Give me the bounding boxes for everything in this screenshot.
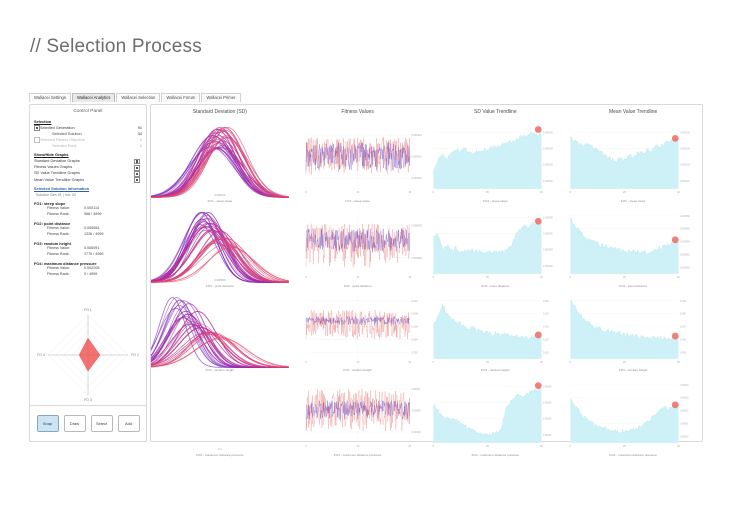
- svg-text:0.000663: 0.000663: [680, 254, 690, 256]
- selection-row-value: 91: [128, 126, 142, 131]
- selected-generation-marker[interactable]: [672, 332, 679, 339]
- svg-text:0.005: 0.005: [680, 352, 687, 354]
- sd-trendline-chart: 0.000040.000030.000020.0000102040: [427, 373, 565, 458]
- chart-cell[interactable]: 0.008FO3 - random height: [151, 289, 289, 374]
- chart-x-axis-label: FO2 - point distance: [289, 284, 427, 288]
- field-value: 0 / 4999: [84, 272, 142, 277]
- svg-text:0.008: 0.008: [680, 313, 687, 315]
- objective-fitness-value: Fitness Value:0.000114: [34, 206, 142, 212]
- field-label: Fitness Rank:: [47, 272, 84, 277]
- objective-info-blocks: FO1: steep slopeFitness Value:0.000114Fi…: [34, 201, 142, 277]
- svg-text:0.00005: 0.00005: [411, 410, 421, 413]
- sd-trendline-chart: 0.0000080.0000060.0000040.00000202040: [427, 204, 565, 289]
- selection-row-value: 0: [128, 144, 142, 149]
- svg-text:40: 40: [408, 276, 411, 279]
- svg-text:0: 0: [432, 361, 434, 364]
- svg-text:0.000650: 0.000650: [411, 257, 422, 260]
- tab-wallacei-selection[interactable]: Wallacei Selection: [116, 93, 160, 102]
- checkbox-slot: [34, 137, 40, 143]
- field-value: 0.000654: [84, 226, 142, 231]
- chart-x-axis-label: FO4 - maximum distance pressure: [289, 453, 427, 457]
- svg-text:0.003: 0.003: [543, 326, 550, 328]
- svg-text:20: 20: [623, 191, 626, 194]
- svg-text:0.002: 0.002: [543, 339, 550, 341]
- field-value: 1326 / 4999: [84, 232, 142, 237]
- page-title: // Selection Process: [30, 36, 202, 58]
- radar-axis-label: FO 1: [84, 308, 92, 312]
- selection-row-label: Selected Rank: [40, 144, 128, 149]
- showhide-row[interactable]: SD Value Trendline Graphs: [34, 171, 142, 177]
- selected-generation-marker[interactable]: [534, 126, 541, 133]
- objective-fitness-rank: Fitness Rank:1770 / 4999: [34, 252, 142, 258]
- svg-text:20: 20: [485, 445, 488, 448]
- svg-text:40: 40: [408, 361, 411, 364]
- svg-text:40: 40: [677, 191, 680, 194]
- svg-text:20: 20: [356, 191, 359, 194]
- showhide-row-label: SD Value Trendline Graphs: [34, 171, 134, 176]
- objective-fitness-rank: Fitness Rank:1326 / 4999: [34, 232, 142, 238]
- svg-text:0: 0: [305, 445, 307, 448]
- svg-text:0.00030: 0.00030: [680, 437, 689, 439]
- chart-x-axis-label: FO1 - steep slope: [564, 199, 702, 203]
- selected-generation-marker[interactable]: [672, 402, 679, 409]
- chart-column-heading: SD Value Trendline: [427, 109, 565, 115]
- field-value: 968 / 4999: [84, 212, 142, 217]
- chart-cell[interactable]: 0.000040.000030.000020.0000102040FO4 - m…: [427, 373, 565, 458]
- showhide-row[interactable]: Mean Value Trendline Graphs: [34, 177, 142, 183]
- selection-row-value: 0: [128, 138, 142, 143]
- sd-trendline-column: 0.0000350.0000340.0000330.00003202040FO1…: [427, 119, 565, 439]
- svg-text:40: 40: [540, 191, 543, 194]
- checkbox-slot: [34, 125, 40, 131]
- field-value: 0.006091: [84, 246, 142, 251]
- field-value: 1770 / 4999: [84, 252, 142, 257]
- sd-curve-chart: [151, 373, 289, 458]
- svg-text:0: 0: [432, 276, 434, 279]
- svg-text:0: 0: [305, 361, 307, 364]
- chart-cell[interactable]: 0.0000350.0000340.0000330.00003202040FO1…: [427, 119, 565, 204]
- svg-text:0: 0: [432, 445, 434, 448]
- selected-generation-marker[interactable]: [534, 331, 541, 338]
- chart-cell[interactable]: 0.0006660.0006650.0006640.0006630.000662…: [564, 204, 702, 289]
- tool-buttons-row: SnapDrawSelectAdd: [30, 406, 146, 441]
- sd-curve-chart: [151, 204, 289, 289]
- svg-text:0.005: 0.005: [543, 300, 550, 302]
- chart-column-heading: Mean Value Trendline: [564, 109, 702, 115]
- svg-text:0.000033: 0.000033: [543, 165, 553, 167]
- objective-fitness-value: Fitness Value:0.006091: [34, 246, 142, 252]
- sd-curve-chart: [151, 289, 289, 374]
- svg-text:40: 40: [540, 276, 543, 279]
- svg-text:0.004: 0.004: [543, 313, 550, 315]
- sd-x-tick: 0.000112: [151, 194, 289, 197]
- svg-text:0.004: 0.004: [411, 338, 418, 341]
- checkbox-icon[interactable]: [134, 171, 140, 177]
- chart-x-axis-label: FO4 - maximum distance pressure: [151, 453, 289, 457]
- svg-text:20: 20: [485, 361, 488, 364]
- sd-trendline-chart: 0.0000350.0000340.0000330.00003202040: [427, 119, 565, 204]
- selected-generation-marker[interactable]: [534, 383, 541, 390]
- chart-x-axis-label: FO4 - maximum distance pressure: [427, 453, 565, 457]
- control-panel: Control Panel Selection Selected Generat…: [29, 104, 147, 442]
- svg-text:40: 40: [540, 361, 543, 364]
- svg-text:40: 40: [408, 191, 411, 194]
- selection-row-label: Selected Solution: [40, 132, 128, 137]
- field-label: Fitness Rank:: [47, 252, 84, 257]
- svg-text:0.000112: 0.000112: [411, 177, 422, 180]
- sd-x-tick: 0.1: [151, 448, 289, 451]
- selection-row[interactable]: Selected Generation91: [34, 125, 142, 131]
- fitness-values-chart: 0.0100.0080.0060.0040.00202040: [289, 289, 427, 374]
- fitness-column: 0.0001140.0001130.00011202040FO1 - steep…: [289, 119, 427, 439]
- svg-text:20: 20: [356, 361, 359, 364]
- sd-x-tick: 0.000658: [151, 279, 289, 282]
- chart-cell[interactable]: 0.0001140.0001130.00011202040FO1 - steep…: [289, 119, 427, 204]
- svg-text:0.000655: 0.000655: [411, 224, 422, 227]
- svg-text:0.00007: 0.00007: [411, 388, 421, 391]
- svg-text:0: 0: [570, 191, 572, 194]
- selection-row[interactable]: Selected Rank0: [34, 143, 142, 149]
- selection-row[interactable]: Selected Fitness Objective0: [34, 137, 142, 143]
- selection-section-heading: Selection: [34, 119, 142, 124]
- chart-column-heading: Fitness Values: [289, 109, 427, 115]
- svg-text:0.000032: 0.000032: [543, 181, 553, 183]
- svg-text:0.001: 0.001: [543, 352, 550, 354]
- svg-text:0: 0: [305, 276, 307, 279]
- svg-text:0.010: 0.010: [411, 299, 418, 302]
- tab-bar: Wallacei SettingsWallacei AnalyticsWalla…: [29, 93, 242, 102]
- svg-text:0.006: 0.006: [411, 325, 418, 328]
- chart-x-axis-label: FO3 - random height: [564, 368, 702, 372]
- chart-cell[interactable]: 0.0006550.00065002040FO2 - point distanc…: [289, 204, 427, 289]
- mean-trendline-chart: 0.000340.000330.000320.000310.0003002040: [564, 373, 702, 458]
- solution-info-heading: Selected Solution Information: [34, 186, 142, 191]
- svg-text:40: 40: [408, 445, 411, 448]
- chart-cell[interactable]: 0.0090.0080.0070.0060.00502040FO3 - rand…: [564, 289, 702, 374]
- chart-grid: 0.000112FO1 - steep slope0.000658FO2 - p…: [151, 119, 702, 439]
- selected-generation-marker[interactable]: [534, 218, 541, 225]
- chart-cell[interactable]: 0.000112FO1 - steep slope: [151, 119, 289, 204]
- svg-text:0.000035: 0.000035: [543, 132, 553, 134]
- svg-text:0.000034: 0.000034: [543, 149, 553, 151]
- sd-trendline-chart: 0.0050.0040.0030.0020.00102040: [427, 289, 565, 374]
- selection-rows: Selected Generation91Selected Solution34…: [34, 125, 142, 149]
- chart-x-axis-label: FO4 - maximum distance pressure: [564, 453, 702, 457]
- objective-fitness-value: Fitness Value:0.002208: [34, 266, 142, 272]
- field-label: Fitness Value:: [47, 246, 84, 251]
- chart-x-axis-label: FO3 - random height: [427, 368, 565, 372]
- svg-text:0: 0: [305, 191, 307, 194]
- svg-text:20: 20: [623, 445, 626, 448]
- chart-x-axis-label: FO2 - point distance: [564, 284, 702, 288]
- svg-text:0.006: 0.006: [680, 339, 687, 341]
- svg-text:40: 40: [677, 361, 680, 364]
- svg-text:20: 20: [485, 191, 488, 194]
- tab-wallacei-settings[interactable]: Wallacei Settings: [29, 93, 71, 102]
- selection-row[interactable]: Selected Solution34: [34, 131, 142, 137]
- field-label: Fitness Value:: [47, 266, 84, 271]
- chart-x-axis-label: FO1 - steep slope: [427, 199, 565, 203]
- svg-text:0: 0: [570, 361, 572, 364]
- svg-text:0.000665: 0.000665: [680, 229, 690, 231]
- sd-column: 0.000112FO1 - steep slope0.000658FO2 - p…: [151, 119, 289, 439]
- svg-text:0.00004: 0.00004: [543, 387, 552, 389]
- svg-text:0.000113: 0.000113: [411, 156, 422, 159]
- checkbox-icon[interactable]: [134, 177, 140, 183]
- checkbox-icon[interactable]: [134, 159, 140, 165]
- svg-text:0.00033: 0.00033: [680, 398, 689, 400]
- showhide-row-label: Standard Deviation Graphs: [34, 159, 134, 164]
- chart-x-axis-label: FO1 - steep slope: [151, 199, 289, 203]
- svg-text:20: 20: [623, 276, 626, 279]
- selection-row-label: Selected Generation: [40, 126, 128, 131]
- svg-text:0.002: 0.002: [411, 351, 418, 354]
- chart-column-headings: Standard Deviation (SD)Fitness ValuesSD …: [151, 109, 702, 115]
- svg-text:0.000004: 0.000004: [543, 250, 553, 252]
- selected-generation-marker[interactable]: [672, 135, 679, 142]
- selection-row-label: Selected Fitness Objective: [40, 138, 128, 143]
- chart-x-axis-label: FO2 - point distance: [427, 284, 565, 288]
- radar-svg: FO 1FO 2FO 3FO 4: [30, 293, 146, 418]
- chart-cell[interactable]: 0.000070.000050.0000302040FO4 - maximum …: [289, 373, 427, 458]
- showhide-row-label: Fitness Values Graphs: [34, 165, 134, 170]
- control-panel-body: Selection Selected Generation91Selected …: [30, 113, 146, 277]
- chart-column-heading: Standard Deviation (SD): [151, 109, 289, 115]
- field-label: Fitness Rank:: [47, 212, 84, 217]
- showhide-rows: Standard Deviation GraphsFitness Values …: [34, 159, 142, 184]
- svg-text:40: 40: [677, 276, 680, 279]
- field-label: Fitness Value:: [47, 226, 84, 231]
- chart-cell[interactable]: 0.1FO4 - maximum distance pressure: [151, 373, 289, 458]
- svg-text:0: 0: [570, 276, 572, 279]
- checkbox-icon[interactable]: [134, 165, 140, 171]
- svg-text:0.00031: 0.00031: [680, 424, 689, 426]
- mean-trendline-column: 0.0002250.0002240.0002230.00022202040FO1…: [564, 119, 702, 439]
- objective-fitness-rank: Fitness Rank:0 / 4999: [34, 272, 142, 278]
- select-button[interactable]: Select: [91, 415, 113, 432]
- field-value: 0.002208: [84, 266, 142, 271]
- fitness-values-chart: 0.0006550.00065002040: [289, 204, 427, 289]
- svg-text:0.000664: 0.000664: [680, 241, 690, 243]
- svg-text:40: 40: [540, 445, 543, 448]
- tab-wallacei-analytics[interactable]: Wallacei Analytics: [72, 93, 115, 102]
- svg-text:0.00001: 0.00001: [543, 435, 552, 437]
- svg-text:0.000666: 0.000666: [680, 216, 690, 218]
- svg-text:0.00032: 0.00032: [680, 411, 689, 413]
- svg-text:0.007: 0.007: [680, 326, 687, 328]
- sd-curve-chart: [151, 119, 289, 204]
- fitness-values-chart: 0.0001140.0001130.00011202040: [289, 119, 427, 204]
- svg-text:0.000223: 0.000223: [680, 165, 690, 167]
- svg-text:20: 20: [356, 445, 359, 448]
- radar-axis-label: FO 3: [84, 398, 92, 402]
- svg-text:0.000002: 0.000002: [543, 266, 553, 268]
- svg-text:0.008: 0.008: [411, 312, 418, 315]
- solution-info-subtitle: Solution Gen 91 | Ind. 34: [34, 193, 142, 198]
- app-root: // Selection Process Wallacei SettingsWa…: [0, 0, 730, 516]
- mean-trendline-chart: 0.0002250.0002240.0002230.00022202040: [564, 119, 702, 204]
- field-label: Fitness Value:: [47, 206, 84, 211]
- field-value: 0.000114: [84, 206, 142, 211]
- svg-text:0.00034: 0.00034: [680, 385, 689, 387]
- mean-trendline-chart: 0.0006660.0006650.0006640.0006630.000662…: [564, 204, 702, 289]
- tab-wallacei-primer[interactable]: Wallacei Primer: [201, 93, 240, 102]
- chart-cell[interactable]: 0.0050.0040.0030.0020.00102040FO3 - rand…: [427, 289, 565, 374]
- svg-text:40: 40: [677, 445, 680, 448]
- selection-row-value: 34: [128, 132, 142, 137]
- svg-text:0.000225: 0.000225: [680, 132, 690, 134]
- svg-text:20: 20: [623, 361, 626, 364]
- chart-cell[interactable]: 0.0002250.0002240.0002230.00022202040FO1…: [564, 119, 702, 204]
- showhide-row-label: Mean Value Trendline Graphs: [34, 178, 134, 183]
- svg-text:0: 0: [570, 445, 572, 448]
- svg-text:0.000008: 0.000008: [543, 217, 553, 219]
- sd-x-tick: 0.008: [151, 363, 289, 366]
- svg-text:0.000006: 0.000006: [543, 233, 553, 235]
- svg-text:0.00003: 0.00003: [543, 403, 552, 405]
- svg-text:20: 20: [485, 276, 488, 279]
- add-button[interactable]: Add: [118, 415, 140, 432]
- snap-button[interactable]: Snap: [37, 415, 59, 432]
- chart-x-axis-label: FO2 - point distance: [151, 284, 289, 288]
- showhide-section-heading: Show/Hide Graphs: [34, 152, 142, 157]
- svg-text:20: 20: [356, 276, 359, 279]
- charts-panel: Standard Deviation (SD)Fitness ValuesSD …: [150, 104, 703, 442]
- showhide-row[interactable]: Fitness Values Graphs: [34, 165, 142, 171]
- checkbox-icon[interactable]: [34, 137, 40, 143]
- svg-text:0.00003: 0.00003: [411, 432, 421, 435]
- svg-text:0.00002: 0.00002: [543, 419, 552, 421]
- selected-generation-marker[interactable]: [672, 236, 679, 243]
- objective-fitness-value: Fitness Value:0.000654: [34, 226, 142, 232]
- svg-text:0.009: 0.009: [680, 300, 687, 302]
- draw-button[interactable]: Draw: [64, 415, 86, 432]
- tool-buttons-panel: SnapDrawSelectAdd: [29, 405, 147, 442]
- svg-text:0.000114: 0.000114: [411, 134, 422, 137]
- svg-text:0.000662: 0.000662: [680, 267, 690, 269]
- chart-cell[interactable]: 0.000658FO2 - point distance: [151, 204, 289, 289]
- radar-axis-label: FO 2: [131, 353, 139, 357]
- mean-trendline-chart: 0.0090.0080.0070.0060.00502040: [564, 289, 702, 374]
- field-label: Fitness Rank:: [47, 232, 84, 237]
- radar-chart: FO 1FO 2FO 3FO 4: [30, 293, 146, 418]
- tab-wallacei-forum[interactable]: Wallacei Forum: [161, 93, 200, 102]
- objective-fitness-rank: Fitness Rank:968 / 4999: [34, 212, 142, 218]
- chart-cell[interactable]: 0.0100.0080.0060.0040.00202040FO3 - rand…: [289, 289, 427, 374]
- svg-text:0.000224: 0.000224: [680, 149, 690, 151]
- chart-x-axis-label: FO3 - random height: [151, 368, 289, 372]
- radar-axis-label: FO 4: [37, 353, 45, 357]
- checkbox-icon[interactable]: [34, 125, 40, 131]
- chart-x-axis-label: FO1 - steep slope: [289, 199, 427, 203]
- chart-x-axis-label: FO3 - random height: [289, 368, 427, 372]
- chart-cell[interactable]: 0.0000080.0000060.0000040.00000202040FO2…: [427, 204, 565, 289]
- svg-text:0.000222: 0.000222: [680, 181, 690, 183]
- svg-text:0: 0: [432, 191, 434, 194]
- fitness-values-chart: 0.000070.000050.0000302040: [289, 373, 427, 458]
- chart-cell[interactable]: 0.000340.000330.000320.000310.0003002040…: [564, 373, 702, 458]
- showhide-row[interactable]: Standard Deviation Graphs: [34, 159, 142, 165]
